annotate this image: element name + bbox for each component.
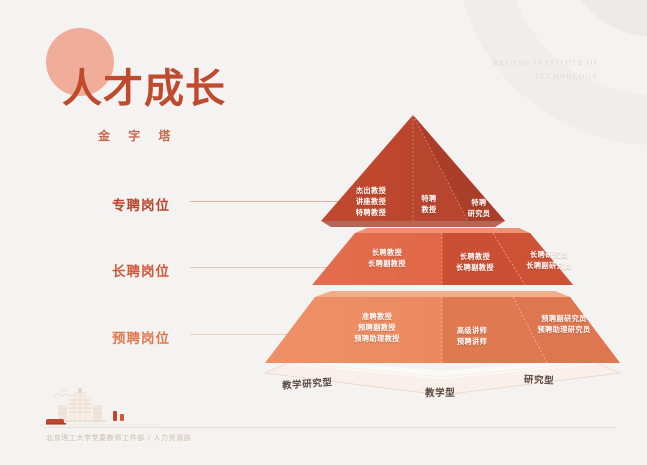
- brand-english-line2: TECHNOLOGY: [459, 70, 599, 84]
- tier-label-yupin: 预聘岗位: [112, 327, 170, 347]
- tier-top-bottom-edge: [321, 221, 505, 227]
- footer-divider: [44, 427, 616, 428]
- tier-label-zhuanpin: 专聘岗位: [112, 194, 170, 214]
- brand-english-line1: BEIJING INSTITUTE OF: [459, 56, 599, 70]
- footer: 北京理工大学党委教师工作部 / 人力资源部: [40, 391, 620, 451]
- pyramid-svg: [255, 105, 630, 405]
- brand-english: BEIJING INSTITUTE OF TECHNOLOGY: [459, 56, 599, 85]
- tier-mid-top-cap: [355, 228, 530, 233]
- tier-bottom-top-cap: [315, 291, 570, 297]
- tier-label-changpin: 长聘岗位: [112, 260, 170, 280]
- base-caption-research: 研究型: [524, 371, 555, 387]
- pyramid-diagram: 杰出教授 讲座教授 特聘教授 特聘 教授 特聘 研究员 长聘教授 长聘副教授 长…: [255, 105, 630, 405]
- page-title: 人才成长: [62, 69, 226, 109]
- footer-text: 北京理工大学党委教师工作部 / 人力资源部: [46, 433, 191, 443]
- page-subtitle: 金 字 塔: [98, 127, 177, 144]
- bit-main-building-icon: [40, 387, 160, 431]
